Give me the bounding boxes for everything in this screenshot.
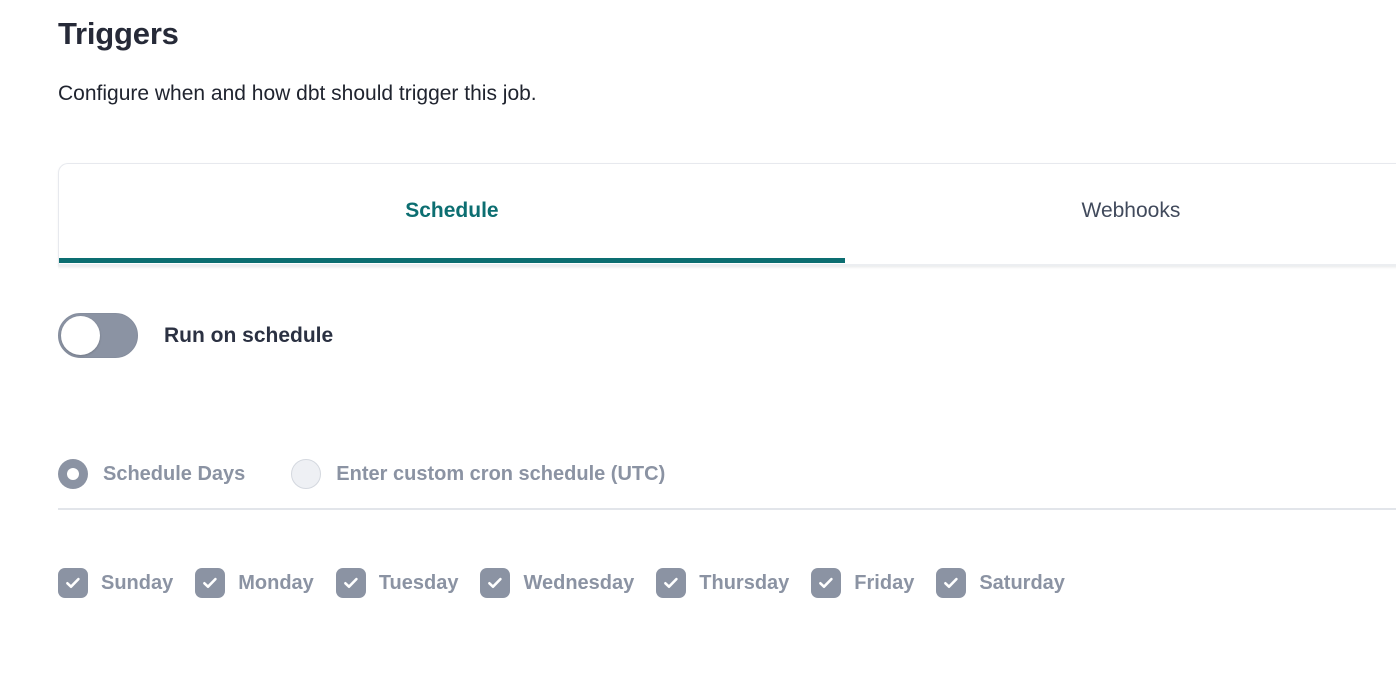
check-icon [936, 568, 966, 598]
check-icon [336, 568, 366, 598]
toggle-knob [61, 316, 100, 355]
tab-list: Schedule Webhooks [59, 164, 1396, 266]
radio-option-custom-cron[interactable]: Enter custom cron schedule (UTC) [291, 459, 665, 489]
day-checkbox-sunday[interactable]: Sunday [58, 568, 173, 598]
tabs-bottom-shadow [58, 266, 1396, 270]
check-icon [195, 568, 225, 598]
run-on-schedule-label: Run on schedule [164, 324, 333, 348]
triggers-tabs-card: Schedule Webhooks [58, 163, 1396, 266]
day-label-thursday: Thursday [699, 572, 789, 595]
day-checkbox-thursday[interactable]: Thursday [656, 568, 789, 598]
tab-webhooks[interactable]: Webhooks [845, 164, 1396, 263]
radio-option-custom-cron-label: Enter custom cron schedule (UTC) [336, 463, 665, 486]
day-label-saturday: Saturday [979, 572, 1065, 595]
tab-schedule-label: Schedule [405, 199, 498, 223]
day-label-wednesday: Wednesday [523, 572, 634, 595]
page-title: Triggers [58, 17, 179, 51]
schedule-days-row: Sunday Monday Tuesday Wednesday Thursday [58, 568, 1065, 598]
radio-selected-icon [58, 459, 88, 489]
schedule-mode-radio-group: Schedule Days Enter custom cron schedule… [58, 459, 665, 489]
schedule-mode-divider [58, 508, 1396, 510]
page-subtitle: Configure when and how dbt should trigge… [58, 81, 537, 107]
check-icon [480, 568, 510, 598]
day-checkbox-monday[interactable]: Monday [195, 568, 314, 598]
check-icon [811, 568, 841, 598]
day-label-monday: Monday [238, 572, 314, 595]
run-on-schedule-row: Run on schedule [58, 313, 333, 358]
triggers-page: Triggers Configure when and how dbt shou… [0, 0, 1396, 680]
run-on-schedule-toggle[interactable] [58, 313, 138, 358]
tab-webhooks-label: Webhooks [1082, 199, 1181, 223]
day-label-sunday: Sunday [101, 572, 173, 595]
day-checkbox-tuesday[interactable]: Tuesday [336, 568, 459, 598]
tab-schedule[interactable]: Schedule [59, 164, 845, 263]
radio-option-schedule-days-label: Schedule Days [103, 463, 245, 486]
day-checkbox-friday[interactable]: Friday [811, 568, 914, 598]
check-icon [656, 568, 686, 598]
radio-unselected-icon [291, 459, 321, 489]
day-checkbox-wednesday[interactable]: Wednesday [480, 568, 634, 598]
day-checkbox-saturday[interactable]: Saturday [936, 568, 1065, 598]
check-icon [58, 568, 88, 598]
day-label-tuesday: Tuesday [379, 572, 459, 595]
day-label-friday: Friday [854, 572, 914, 595]
radio-option-schedule-days[interactable]: Schedule Days [58, 459, 245, 489]
